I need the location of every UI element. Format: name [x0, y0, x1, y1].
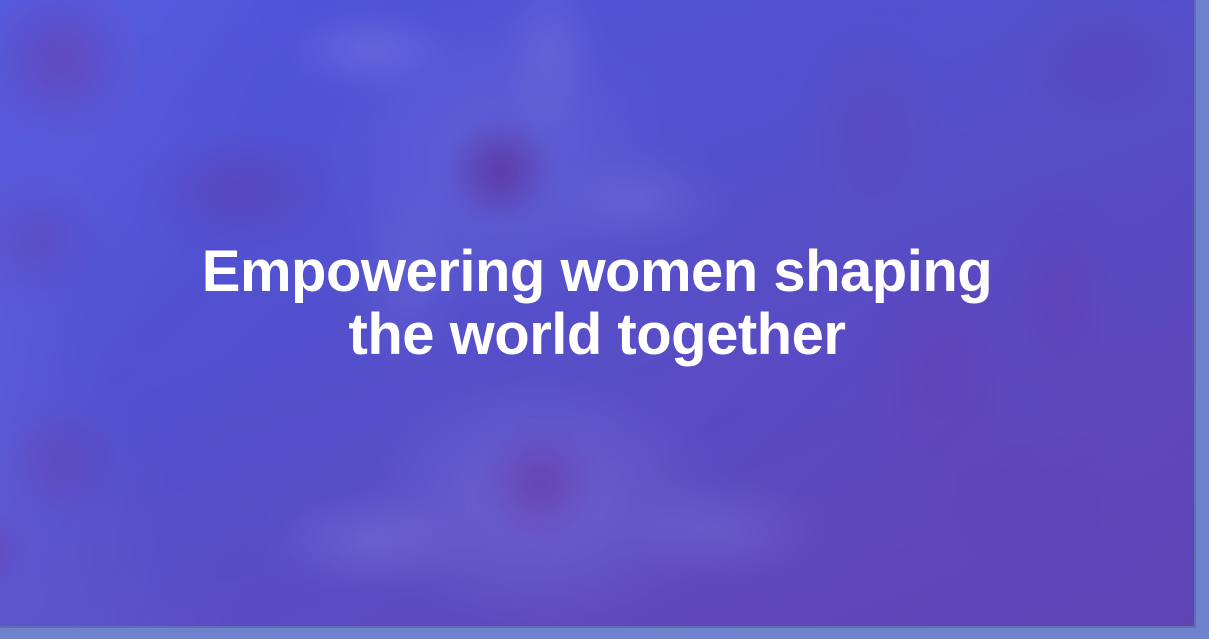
- hero-banner: Empowering women shaping the world toget…: [0, 0, 1196, 628]
- hero-headline: Empowering women shaping the world toget…: [157, 241, 1037, 366]
- hero-content: Empowering women shaping the world toget…: [0, 0, 1194, 626]
- page-frame: Empowering women shaping the world toget…: [0, 0, 1209, 639]
